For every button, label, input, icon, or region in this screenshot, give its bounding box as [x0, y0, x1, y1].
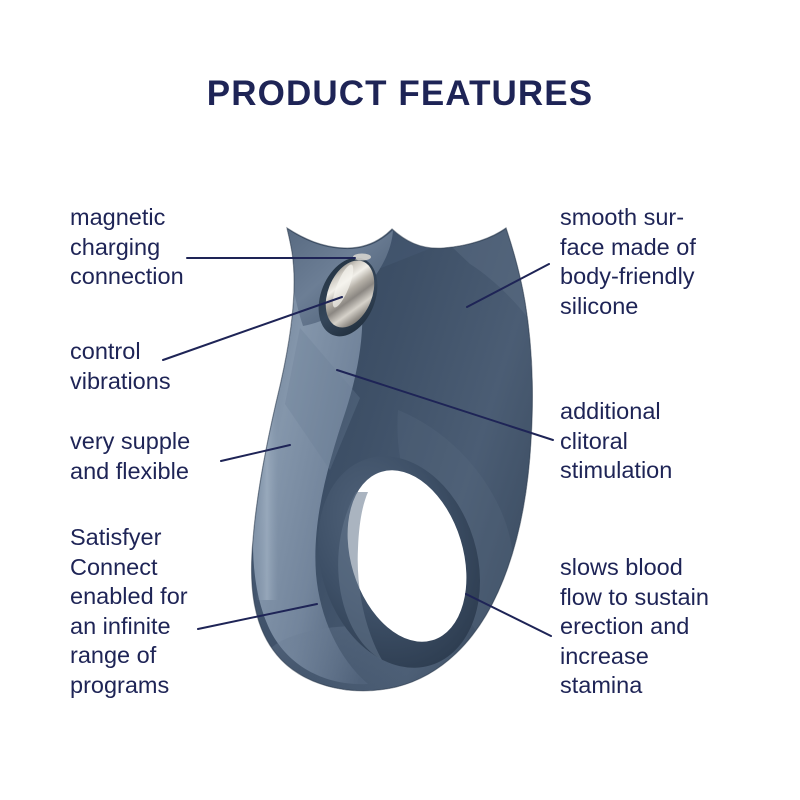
feature-label-smooth-surface: smooth sur- face made of body-friendly s… — [560, 203, 785, 321]
feature-label-slows-blood-flow: slows blood flow to sustain erection and… — [560, 553, 785, 701]
feature-label-control-vibrations: control vibrations — [70, 337, 285, 396]
product-features-infographic: PRODUCT FEATURES — [0, 0, 800, 800]
feature-label-magnetic-charging: magnetic charging connection — [70, 203, 285, 292]
button-top-glint — [353, 254, 371, 261]
feature-label-satisfyer-connect: Satisfyer Connect enabled for an infinit… — [70, 523, 285, 700]
feature-label-very-supple: very supple and flexible — [70, 427, 285, 486]
feature-label-additional-clitoral: additional clitoral stimulation — [560, 397, 785, 486]
